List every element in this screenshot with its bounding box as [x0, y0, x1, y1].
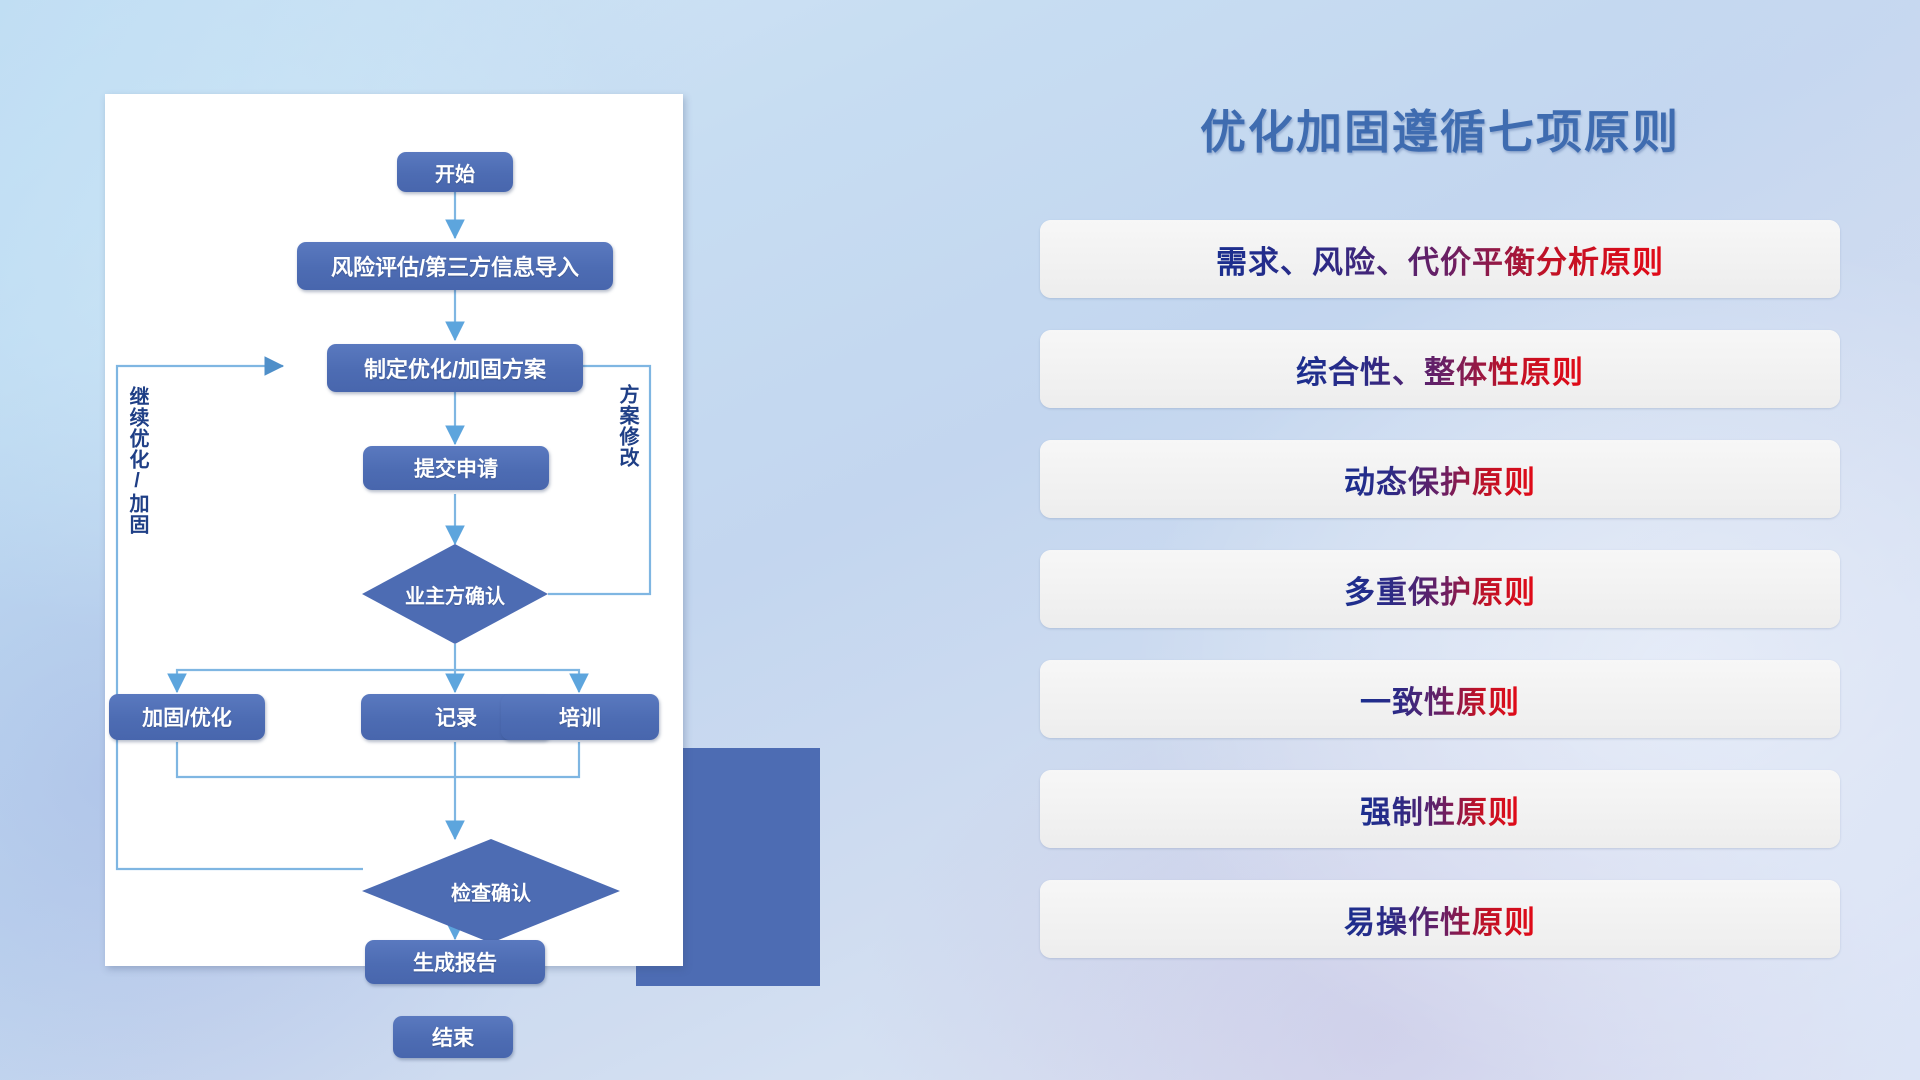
flow-node-label: 加固/优化 [142, 702, 232, 732]
principle-label: 动态保护原则 [1344, 457, 1536, 502]
principle-item[interactable]: 多重保护原则 [1040, 550, 1840, 628]
principle-item[interactable]: 综合性、整体性原则 [1040, 330, 1840, 408]
edge-label-plan-revision: 方案修改 [617, 384, 637, 468]
flow-node-start[interactable]: 开始 [397, 152, 513, 192]
flowchart-connectors [105, 94, 683, 966]
principles-panel: 优化加固遵循七项原则 需求、风险、代价平衡分析原则 综合性、整体性原则 动态保护… [1020, 96, 1860, 996]
flow-node-make-plan[interactable]: 制定优化/加固方案 [327, 344, 583, 392]
principle-label: 易操作性原则 [1344, 897, 1536, 942]
panel-title: 优化加固遵循七项原则 [1020, 96, 1860, 162]
flow-node-label: 风险评估/第三方信息导入 [331, 250, 579, 282]
flow-node-label: 业主方确认 [405, 580, 505, 609]
principle-label: 多重保护原则 [1344, 567, 1536, 612]
flow-node-label: 记录 [435, 702, 477, 732]
flow-node-reinforce-optimize[interactable]: 加固/优化 [109, 694, 265, 740]
flow-node-label: 检查确认 [451, 877, 531, 906]
edge-label-continue-optimize: 继续优化/加固 [127, 386, 147, 535]
flow-node-label: 制定优化/加固方案 [364, 352, 546, 384]
flow-node-risk-assessment[interactable]: 风险评估/第三方信息导入 [297, 242, 613, 290]
principle-item[interactable]: 动态保护原则 [1040, 440, 1840, 518]
flow-node-label: 结束 [432, 1022, 474, 1052]
principle-item[interactable]: 一致性原则 [1040, 660, 1840, 738]
flow-node-label: 培训 [559, 702, 601, 732]
flow-node-label: 开始 [435, 158, 475, 187]
principle-item[interactable]: 需求、风险、代价平衡分析原则 [1040, 220, 1840, 298]
principle-item[interactable]: 易操作性原则 [1040, 880, 1840, 958]
principle-label: 综合性、整体性原则 [1296, 347, 1584, 392]
flow-node-training[interactable]: 培训 [501, 694, 659, 740]
principle-label: 需求、风险、代价平衡分析原则 [1216, 237, 1664, 282]
flow-node-generate-report[interactable]: 生成报告 [365, 940, 545, 984]
flow-node-submit-application[interactable]: 提交申请 [363, 446, 549, 490]
principle-item[interactable]: 强制性原则 [1040, 770, 1840, 848]
principle-label: 强制性原则 [1360, 787, 1520, 832]
principle-list: 需求、风险、代价平衡分析原则 综合性、整体性原则 动态保护原则 多重保护原则 一… [1040, 220, 1840, 990]
principle-label: 一致性原则 [1360, 677, 1520, 722]
flowchart-card: 开始 风险评估/第三方信息导入 制定优化/加固方案 提交申请 业主方确认 加固/… [105, 94, 683, 966]
flow-node-label: 提交申请 [414, 453, 498, 483]
flow-node-end[interactable]: 结束 [393, 1016, 513, 1058]
flow-node-label: 生成报告 [413, 947, 497, 977]
